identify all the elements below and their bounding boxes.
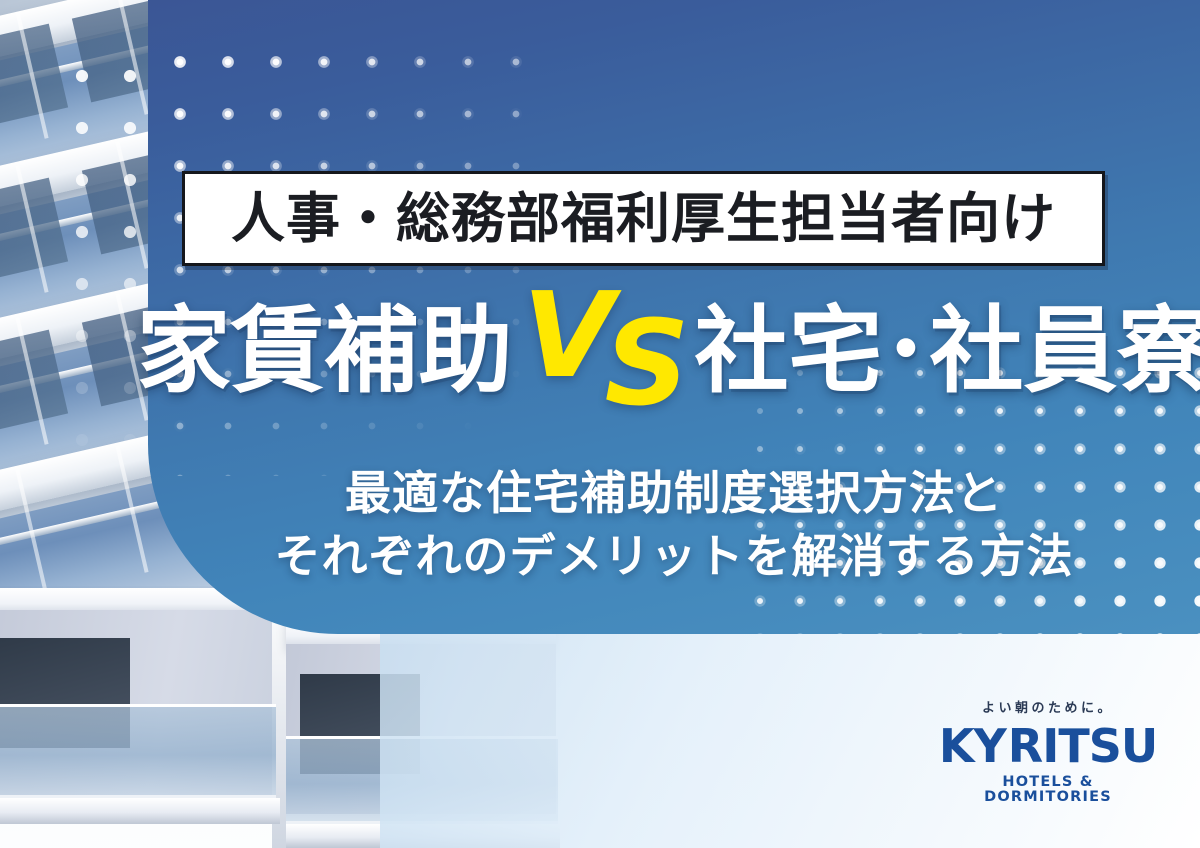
subtitle: 最適な住宅補助制度選択方法と それぞれのデメリットを解消する方法	[148, 462, 1200, 589]
logo-wordmark-after: RITSU	[1008, 723, 1157, 769]
logo-wordmark: KY RITSU	[948, 722, 1148, 769]
subtitle-line-1: 最適な住宅補助制度選択方法と	[148, 462, 1200, 525]
eyebrow-banner: 人事・総務部福利厚生担当者向け	[182, 171, 1105, 266]
logo-subtext: HOTELS & DORMITORIES	[948, 775, 1148, 804]
versus-letter-v: V	[523, 276, 608, 394]
headline-right-term: 社宅･社員寮	[695, 305, 1200, 399]
eyebrow-label: 人事・総務部福利厚生担当者向け	[231, 192, 1056, 246]
logo-wordmark-before: KY	[939, 723, 1006, 769]
headline: 家賃補助 V S 社宅･社員寮	[148, 292, 1200, 412]
versus-mark: V S	[519, 288, 687, 416]
versus-letter-s: S	[605, 304, 690, 422]
headline-left-term: 家賃補助	[136, 305, 512, 399]
logo-tagline: よい朝のために。	[948, 702, 1148, 715]
kyoritsu-logo: よい朝のために。 KY RITSU HOTELS & DORMITORIES	[948, 702, 1148, 804]
subtitle-line-2: それぞれのデメリットを解消する方法	[148, 525, 1200, 588]
slide-canvas: 人事・総務部福利厚生担当者向け 家賃補助 V S 社宅･社員寮 最適な住宅補助制…	[0, 0, 1200, 848]
